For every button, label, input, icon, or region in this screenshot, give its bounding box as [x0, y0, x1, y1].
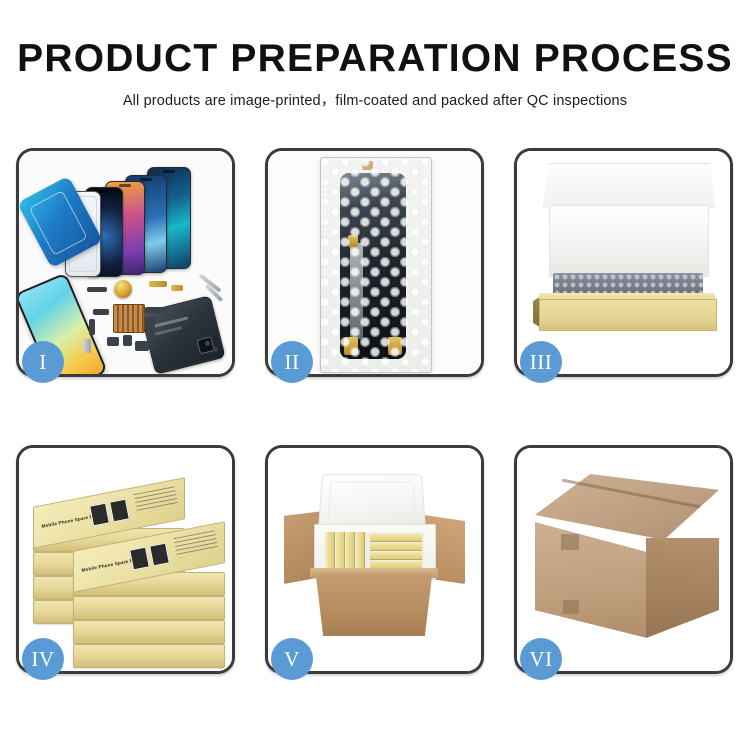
step-2-image	[268, 151, 481, 374]
process-step-card-3: III	[514, 148, 733, 377]
open-box-illustration	[517, 151, 730, 374]
phone-parts-illustration	[19, 151, 232, 374]
part-icon	[87, 287, 107, 292]
process-step-card-2: II	[265, 148, 484, 377]
part-icon	[149, 281, 167, 287]
product-preparation-page: PRODUCT PREPARATION PROCESS All products…	[0, 0, 750, 750]
box-stack: Mobile Phone Spare Parts Mobile Phone Sp…	[27, 466, 231, 662]
process-step-grid: I II	[16, 148, 736, 674]
chip-grid-icon	[113, 304, 145, 333]
step-badge-1: I	[22, 341, 64, 383]
step-badge-2: II	[271, 341, 313, 383]
step-6-image	[517, 448, 730, 671]
foam-carton-illustration	[268, 448, 481, 671]
step-5-image	[268, 448, 481, 671]
inner-box-icon	[346, 532, 355, 572]
stacked-box	[73, 620, 225, 644]
part-icon	[145, 317, 155, 331]
stacked-box	[73, 596, 225, 620]
camera-ring-icon	[114, 280, 132, 298]
part-icon	[123, 335, 132, 346]
process-step-card-1: I	[16, 148, 235, 377]
step-badge-5: V	[271, 638, 313, 680]
box-front-icon	[539, 299, 717, 331]
page-header: PRODUCT PREPARATION PROCESS All products…	[0, 36, 750, 110]
inner-box-icon	[356, 532, 365, 572]
bag-edge	[320, 157, 432, 373]
foam-sheet-icon	[549, 205, 709, 277]
part-icon	[89, 319, 95, 335]
stacked-box	[73, 644, 225, 668]
part-icon	[135, 341, 149, 351]
inner-box-icon	[370, 543, 422, 551]
bubble-wrap-bag	[320, 157, 432, 373]
part-icon	[83, 339, 91, 353]
bubble-wrap-illustration	[268, 151, 481, 374]
stacked-boxes-illustration: Mobile Phone Spare Parts Mobile Phone Sp…	[19, 448, 232, 671]
box-lid-icon	[543, 163, 715, 208]
carton-face-right	[646, 538, 719, 638]
carton-face-left	[535, 522, 647, 638]
part-icon	[107, 337, 119, 346]
step-badge-3: III	[520, 341, 562, 383]
carton-tape-icon	[563, 600, 579, 614]
step-3-image	[517, 151, 730, 374]
step-4-image: Mobile Phone Spare Parts Mobile Phone Sp…	[19, 448, 232, 671]
screw-icon	[213, 347, 218, 352]
foam-inner-cavity	[324, 532, 424, 572]
carton-front	[312, 574, 436, 636]
process-step-card-5: V	[265, 445, 484, 674]
page-title: PRODUCT PREPARATION PROCESS	[0, 36, 750, 82]
part-icon	[145, 307, 167, 313]
inner-box-icon	[326, 532, 335, 572]
part-icon	[93, 309, 109, 315]
step-1-image	[19, 151, 232, 374]
process-step-card-6: VI	[514, 445, 733, 674]
inner-box-icon	[370, 534, 422, 542]
sealed-carton-illustration	[517, 448, 730, 671]
step-badge-4: IV	[22, 638, 64, 680]
step-badge-6: VI	[520, 638, 562, 680]
screw-icon	[205, 341, 210, 346]
carton-tape-icon	[561, 534, 579, 550]
part-icon	[171, 285, 183, 291]
inner-box-icon	[336, 532, 345, 572]
page-subtitle: All products are image-printed，film-coat…	[0, 89, 750, 110]
process-step-card-4: Mobile Phone Spare Parts Mobile Phone Sp…	[16, 445, 235, 674]
inner-box-icon	[370, 552, 422, 560]
